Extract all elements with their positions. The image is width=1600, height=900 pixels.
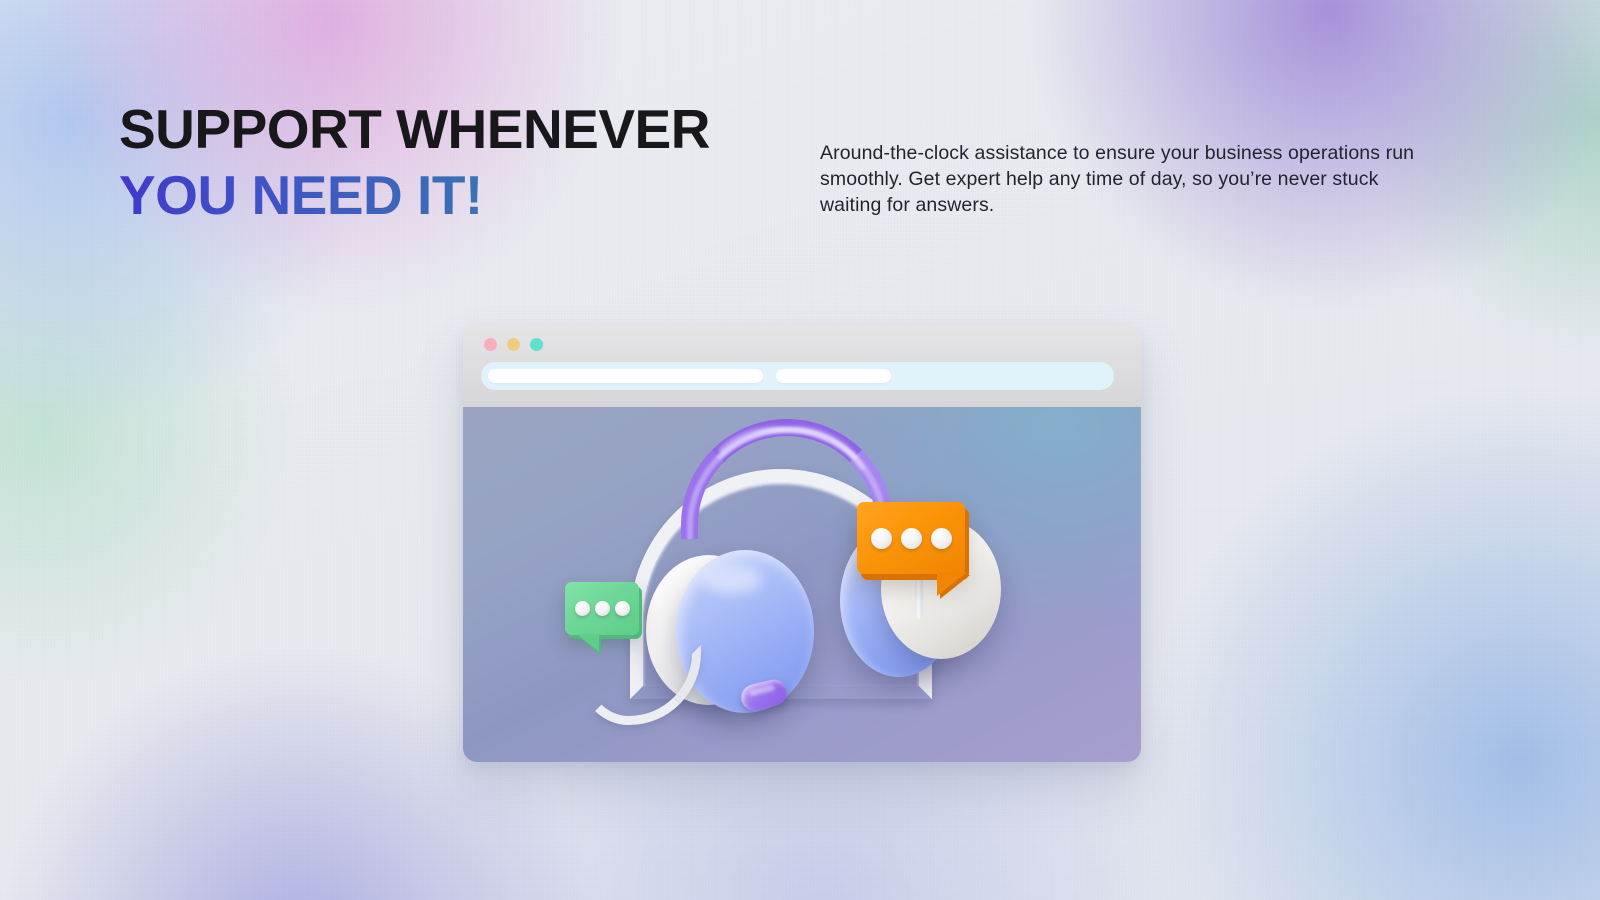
toolbar-watermark [991, 337, 1111, 389]
bubble-tail [577, 634, 599, 652]
url-input-placeholder-pill[interactable] [488, 369, 763, 383]
close-window-dot[interactable] [484, 338, 497, 351]
headset-illustration [463, 407, 1141, 762]
hero-description: Around-the-clock assistance to ensure yo… [820, 140, 1445, 218]
chat-dot-icon [595, 601, 610, 616]
window-controls [484, 338, 543, 351]
browser-toolbar [463, 325, 1141, 407]
hero-section: SUPPORT WHENEVER YOU NEED IT! Around-the… [0, 0, 1600, 900]
chat-dot-icon [871, 528, 892, 549]
maximize-window-dot[interactable] [530, 338, 543, 351]
browser-window-mockup [463, 325, 1141, 762]
secondary-input-placeholder-pill[interactable] [776, 369, 891, 383]
orange-chat-bubble [857, 502, 965, 574]
chat-dot-icon [931, 528, 952, 549]
microphone-boom-arm [581, 645, 701, 725]
headline-line-primary: SUPPORT WHENEVER [119, 96, 839, 162]
headline-line-accent: YOU NEED IT! [119, 162, 839, 228]
page-title: SUPPORT WHENEVER YOU NEED IT! [119, 96, 839, 228]
chat-dot-icon [901, 528, 922, 549]
illustration-stage [463, 407, 1141, 762]
bubble-tail [937, 572, 967, 596]
chat-dot-icon [615, 601, 630, 616]
chat-dot-icon [575, 601, 590, 616]
green-chat-bubble [565, 582, 639, 635]
minimize-window-dot[interactable] [507, 338, 520, 351]
